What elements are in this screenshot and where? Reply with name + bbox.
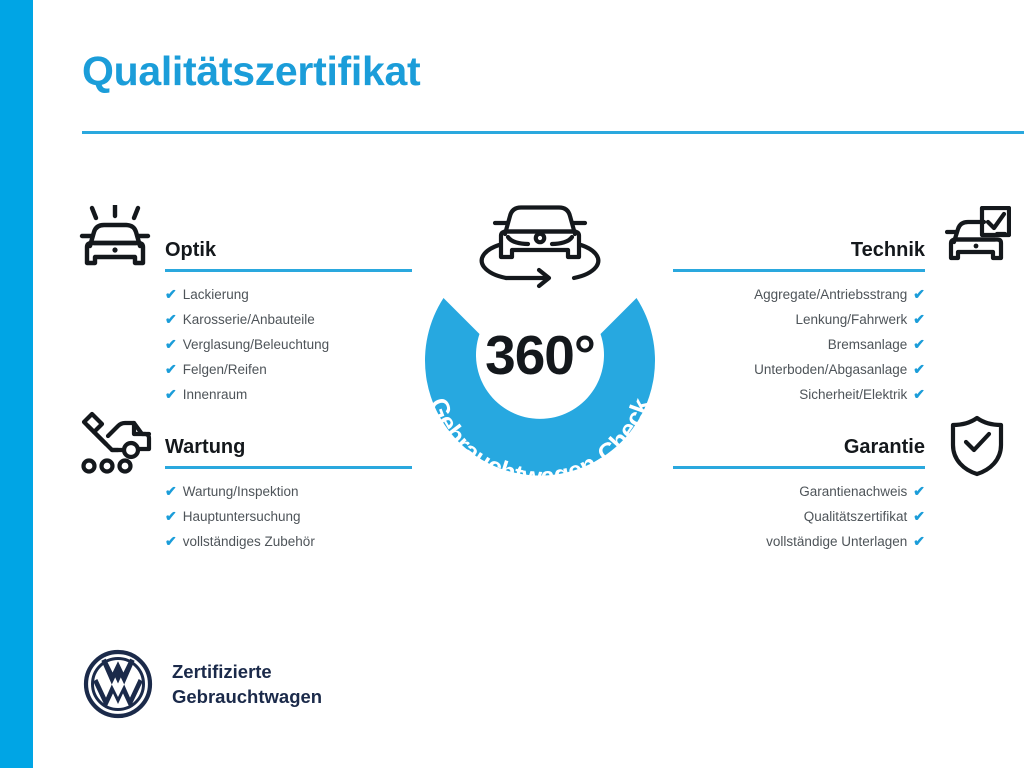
list-item-label: Sicherheit/Elektrik [799, 387, 907, 402]
list-item: ✔Karosserie/Anbauteile [165, 307, 412, 332]
section-garantie-header: Garantie [673, 435, 925, 469]
list-item-label: Karosserie/Anbauteile [183, 312, 315, 327]
car-checkbox-icon [945, 206, 1011, 275]
list-item-label: Lenkung/Fahrwerk [795, 312, 907, 327]
section-garantie-list: Garantienachweis✔ Qualitätszertifikat✔ v… [673, 479, 925, 554]
section-garantie: Garantie Garantienachweis✔ Qualitätszert… [673, 435, 925, 554]
section-optik-header: Optik [165, 238, 412, 272]
list-item-label: Lackierung [183, 287, 249, 302]
list-item-label: Aggregate/Antriebsstrang [754, 287, 907, 302]
list-item: ✔Felgen/Reifen [165, 357, 412, 382]
certificate-page: Qualitätszertifikat [0, 0, 1024, 768]
check-icon: ✔ [913, 311, 925, 327]
section-wartung-title: Wartung [165, 435, 412, 459]
list-item: ✔Lackierung [165, 282, 412, 307]
list-item: Qualitätszertifikat✔ [673, 504, 925, 529]
check-icon: ✔ [913, 361, 925, 377]
check-icon: ✔ [165, 533, 177, 549]
section-technik-list: Aggregate/Antriebsstrang✔ Lenkung/Fahrwe… [673, 282, 925, 407]
list-item-label: Garantienachweis [799, 484, 907, 499]
section-technik: Technik Aggregate/Antriebsstrang✔ Lenkun… [673, 238, 925, 407]
list-item: Unterboden/Abgasanlage✔ [673, 357, 925, 382]
list-item-label: Qualitätszertifikat [804, 509, 908, 524]
car-shine-icon [78, 205, 152, 280]
check-icon: ✔ [913, 483, 925, 499]
list-item-label: Hauptuntersuchung [183, 509, 301, 524]
check-icon: ✔ [165, 286, 177, 302]
list-item: ✔Innenraum [165, 382, 412, 407]
list-item: Garantienachweis✔ [673, 479, 925, 504]
list-item-label: Innenraum [183, 387, 248, 402]
check-icon: ✔ [913, 533, 925, 549]
section-optik: Optik ✔Lackierung ✔Karosserie/Anbauteile… [165, 238, 412, 407]
vw-footer-lockup: Zertifizierte Gebrauchtwagen [82, 648, 322, 720]
check-icon: ✔ [165, 361, 177, 377]
section-garantie-divider [673, 466, 925, 469]
list-item: ✔Hauptuntersuchung [165, 504, 412, 529]
section-wartung-divider [165, 466, 412, 469]
car-rotation-icon [482, 208, 599, 287]
page-title: Qualitätszertifikat [82, 48, 420, 95]
volkswagen-logo [82, 648, 154, 720]
check-icon: ✔ [913, 508, 925, 524]
check-icon: ✔ [165, 508, 177, 524]
section-optik-divider [165, 269, 412, 272]
section-optik-title: Optik [165, 238, 412, 262]
shield-check-icon [948, 415, 1006, 482]
check-icon: ✔ [913, 286, 925, 302]
list-item-label: Unterboden/Abgasanlage [754, 362, 907, 377]
list-item-label: vollständiges Zubehör [183, 534, 315, 549]
check-icon: ✔ [165, 336, 177, 352]
check-icon: ✔ [913, 336, 925, 352]
badge-360-gebrauchtwagen-check: Gebrauchtwagen-Check [390, 185, 690, 495]
list-item-label: vollständige Unterlagen [766, 534, 907, 549]
list-item-label: Verglasung/Beleuchtung [183, 337, 329, 352]
list-item: ✔vollständiges Zubehör [165, 529, 412, 554]
section-wartung: Wartung ✔Wartung/Inspektion ✔Hauptunters… [165, 435, 412, 554]
list-item-label: Felgen/Reifen [183, 362, 267, 377]
section-technik-divider [673, 269, 925, 272]
list-item: Sicherheit/Elektrik✔ [673, 382, 925, 407]
left-accent-bar [0, 0, 33, 768]
check-icon: ✔ [165, 483, 177, 499]
list-item: Lenkung/Fahrwerk✔ [673, 307, 925, 332]
header-divider [82, 131, 1024, 134]
check-icon: ✔ [913, 386, 925, 402]
vw-wordmark-line1: Zertifizierte [172, 659, 322, 684]
section-technik-title: Technik [673, 238, 925, 262]
check-icon: ✔ [165, 311, 177, 327]
section-wartung-header: Wartung [165, 435, 412, 469]
check-icon: ✔ [165, 386, 177, 402]
section-optik-list: ✔Lackierung ✔Karosserie/Anbauteile ✔Verg… [165, 282, 412, 407]
badge-center-label: 360° [390, 323, 690, 387]
list-item: Bremsanlage✔ [673, 332, 925, 357]
section-wartung-list: ✔Wartung/Inspektion ✔Hauptuntersuchung ✔… [165, 479, 412, 554]
vw-wordmark: Zertifizierte Gebrauchtwagen [172, 659, 322, 709]
list-item-label: Bremsanlage [828, 337, 908, 352]
list-item: Aggregate/Antriebsstrang✔ [673, 282, 925, 307]
list-item: ✔Verglasung/Beleuchtung [165, 332, 412, 357]
list-item: vollständige Unterlagen✔ [673, 529, 925, 554]
section-technik-header: Technik [673, 238, 925, 272]
list-item: ✔Wartung/Inspektion [165, 479, 412, 504]
vw-wordmark-line2: Gebrauchtwagen [172, 684, 322, 709]
section-garantie-title: Garantie [673, 435, 925, 459]
car-service-pen-icon [78, 410, 152, 481]
list-item-label: Wartung/Inspektion [183, 484, 299, 499]
